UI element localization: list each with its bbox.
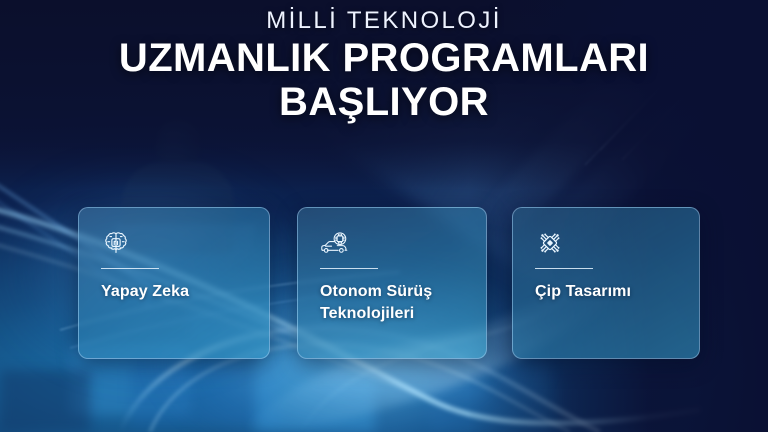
- banner-title-line1: UZMANLIK PROGRAMLARI: [0, 38, 768, 79]
- program-card-label: Otonom Sürüş Teknolojileri: [320, 281, 468, 324]
- program-card-cip-tasarimi[interactable]: Çip Tasarımı: [512, 207, 700, 359]
- autonomous-car-chip-icon: [320, 228, 350, 258]
- program-cards: Yapay Zeka: [0, 207, 768, 367]
- promo-banner: MİLLİ TEKNOLOJİ UZMANLIK PROGRAMLARI BAŞ…: [0, 0, 768, 432]
- program-card-yapay-zeka[interactable]: Yapay Zeka: [78, 207, 270, 359]
- card-divider: [535, 268, 593, 269]
- brain-ai-icon: [101, 228, 131, 258]
- microchip-icon: [535, 228, 565, 258]
- card-divider: [320, 268, 378, 269]
- banner-headings: MİLLİ TEKNOLOJİ UZMANLIK PROGRAMLARI BAŞ…: [0, 8, 768, 123]
- program-card-otonom-surus[interactable]: Otonom Sürüş Teknolojileri: [297, 207, 487, 359]
- program-card-label: Çip Tasarımı: [535, 281, 681, 303]
- card-divider: [101, 268, 159, 269]
- banner-title-line2: BAŞLIYOR: [0, 81, 768, 123]
- program-card-label: Yapay Zeka: [101, 281, 251, 303]
- banner-kicker: MİLLİ TEKNOLOJİ: [0, 8, 768, 34]
